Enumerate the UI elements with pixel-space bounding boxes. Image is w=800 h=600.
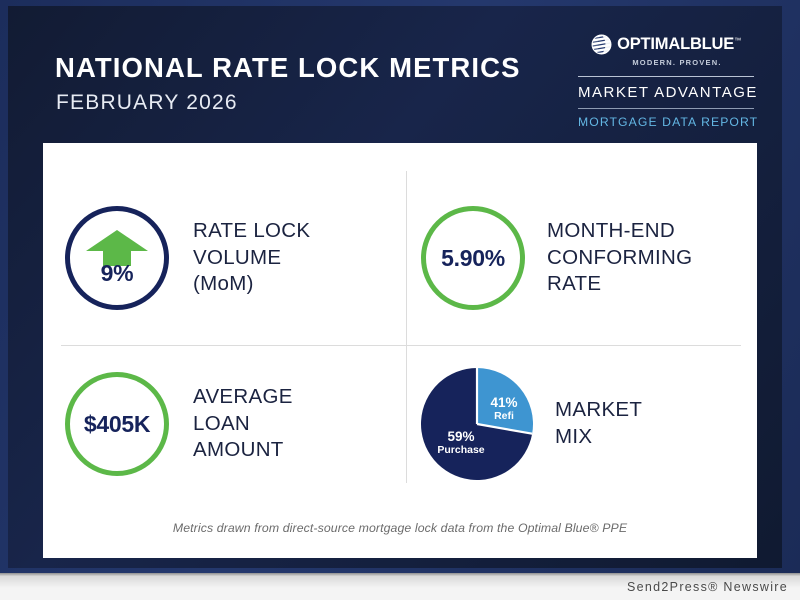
logo-row: OPTIMALBLUE™ bbox=[578, 32, 754, 56]
newswire-attribution: Send2Press® Newswire bbox=[627, 580, 788, 594]
market-mix-label: MARKETMIX bbox=[555, 397, 642, 450]
bottom-strip: Send2Press® Newswire bbox=[0, 573, 800, 600]
conforming-rate-value: 5.90% bbox=[441, 247, 505, 270]
logo-divider-top bbox=[578, 76, 754, 77]
rate-lock-volume-value: 9% bbox=[70, 262, 164, 285]
logo-divider-bottom bbox=[578, 108, 754, 109]
metric-month-end-conforming-rate: 5.90% MONTH-ENDCONFORMINGRATE bbox=[421, 171, 757, 345]
average-loan-amount-ring: $405K bbox=[65, 372, 169, 476]
report-type: MORTGAGE DATA REPORT bbox=[578, 115, 754, 129]
program-name: MARKET ADVANTAGE bbox=[578, 84, 754, 101]
logo-tagline: MODERN. PROVEN. bbox=[600, 58, 754, 67]
logo-wordmark: OPTIMALBLUE™ bbox=[617, 36, 741, 53]
grid-divider-horizontal bbox=[61, 345, 741, 346]
conforming-rate-ring: 5.90% bbox=[421, 206, 525, 310]
average-loan-amount-label: AVERAGELOANAMOUNT bbox=[193, 384, 293, 464]
globe-sphere-icon bbox=[591, 34, 612, 55]
average-loan-amount-value: $405K bbox=[84, 413, 150, 436]
poster-inner-panel: NATIONAL RATE LOCK METRICS FEBRUARY 2026 bbox=[8, 6, 782, 568]
header: NATIONAL RATE LOCK METRICS FEBRUARY 2026 bbox=[8, 6, 782, 146]
metrics-grid: 9% RATE LOCKVOLUME(MoM) 5.90% MONTH-ENDC… bbox=[43, 143, 757, 501]
poster-frame: NATIONAL RATE LOCK METRICS FEBRUARY 2026 bbox=[0, 0, 800, 573]
metric-rate-lock-volume: 9% RATE LOCKVOLUME(MoM) bbox=[65, 171, 405, 345]
conforming-rate-label: MONTH-ENDCONFORMINGRATE bbox=[547, 218, 692, 298]
brand-logo-block: OPTIMALBLUE™ MODERN. PROVEN. MARKET ADVA… bbox=[578, 32, 754, 129]
logo-wordmark-text: OPTIMALBLUE bbox=[617, 35, 734, 53]
metrics-card: 9% RATE LOCKVOLUME(MoM) 5.90% MONTH-ENDC… bbox=[43, 143, 757, 558]
metric-market-mix: 41% Refi 59% Purchase MARKETMIX bbox=[421, 348, 757, 500]
logo-trademark: ™ bbox=[734, 37, 741, 44]
rate-lock-volume-ring: 9% bbox=[65, 206, 169, 310]
grid-divider-vertical bbox=[406, 171, 407, 483]
metric-average-loan-amount: $405K AVERAGELOANAMOUNT bbox=[65, 348, 405, 500]
page-subtitle: FEBRUARY 2026 bbox=[56, 91, 238, 115]
page-title: NATIONAL RATE LOCK METRICS bbox=[55, 52, 521, 84]
card-footnote: Metrics drawn from direct-source mortgag… bbox=[43, 521, 757, 535]
market-mix-pie-chart: 41% Refi 59% Purchase bbox=[421, 368, 533, 480]
pie-svg bbox=[421, 368, 533, 480]
pie-slice-refi bbox=[477, 368, 533, 434]
rate-lock-volume-label: RATE LOCKVOLUME(MoM) bbox=[193, 218, 310, 298]
